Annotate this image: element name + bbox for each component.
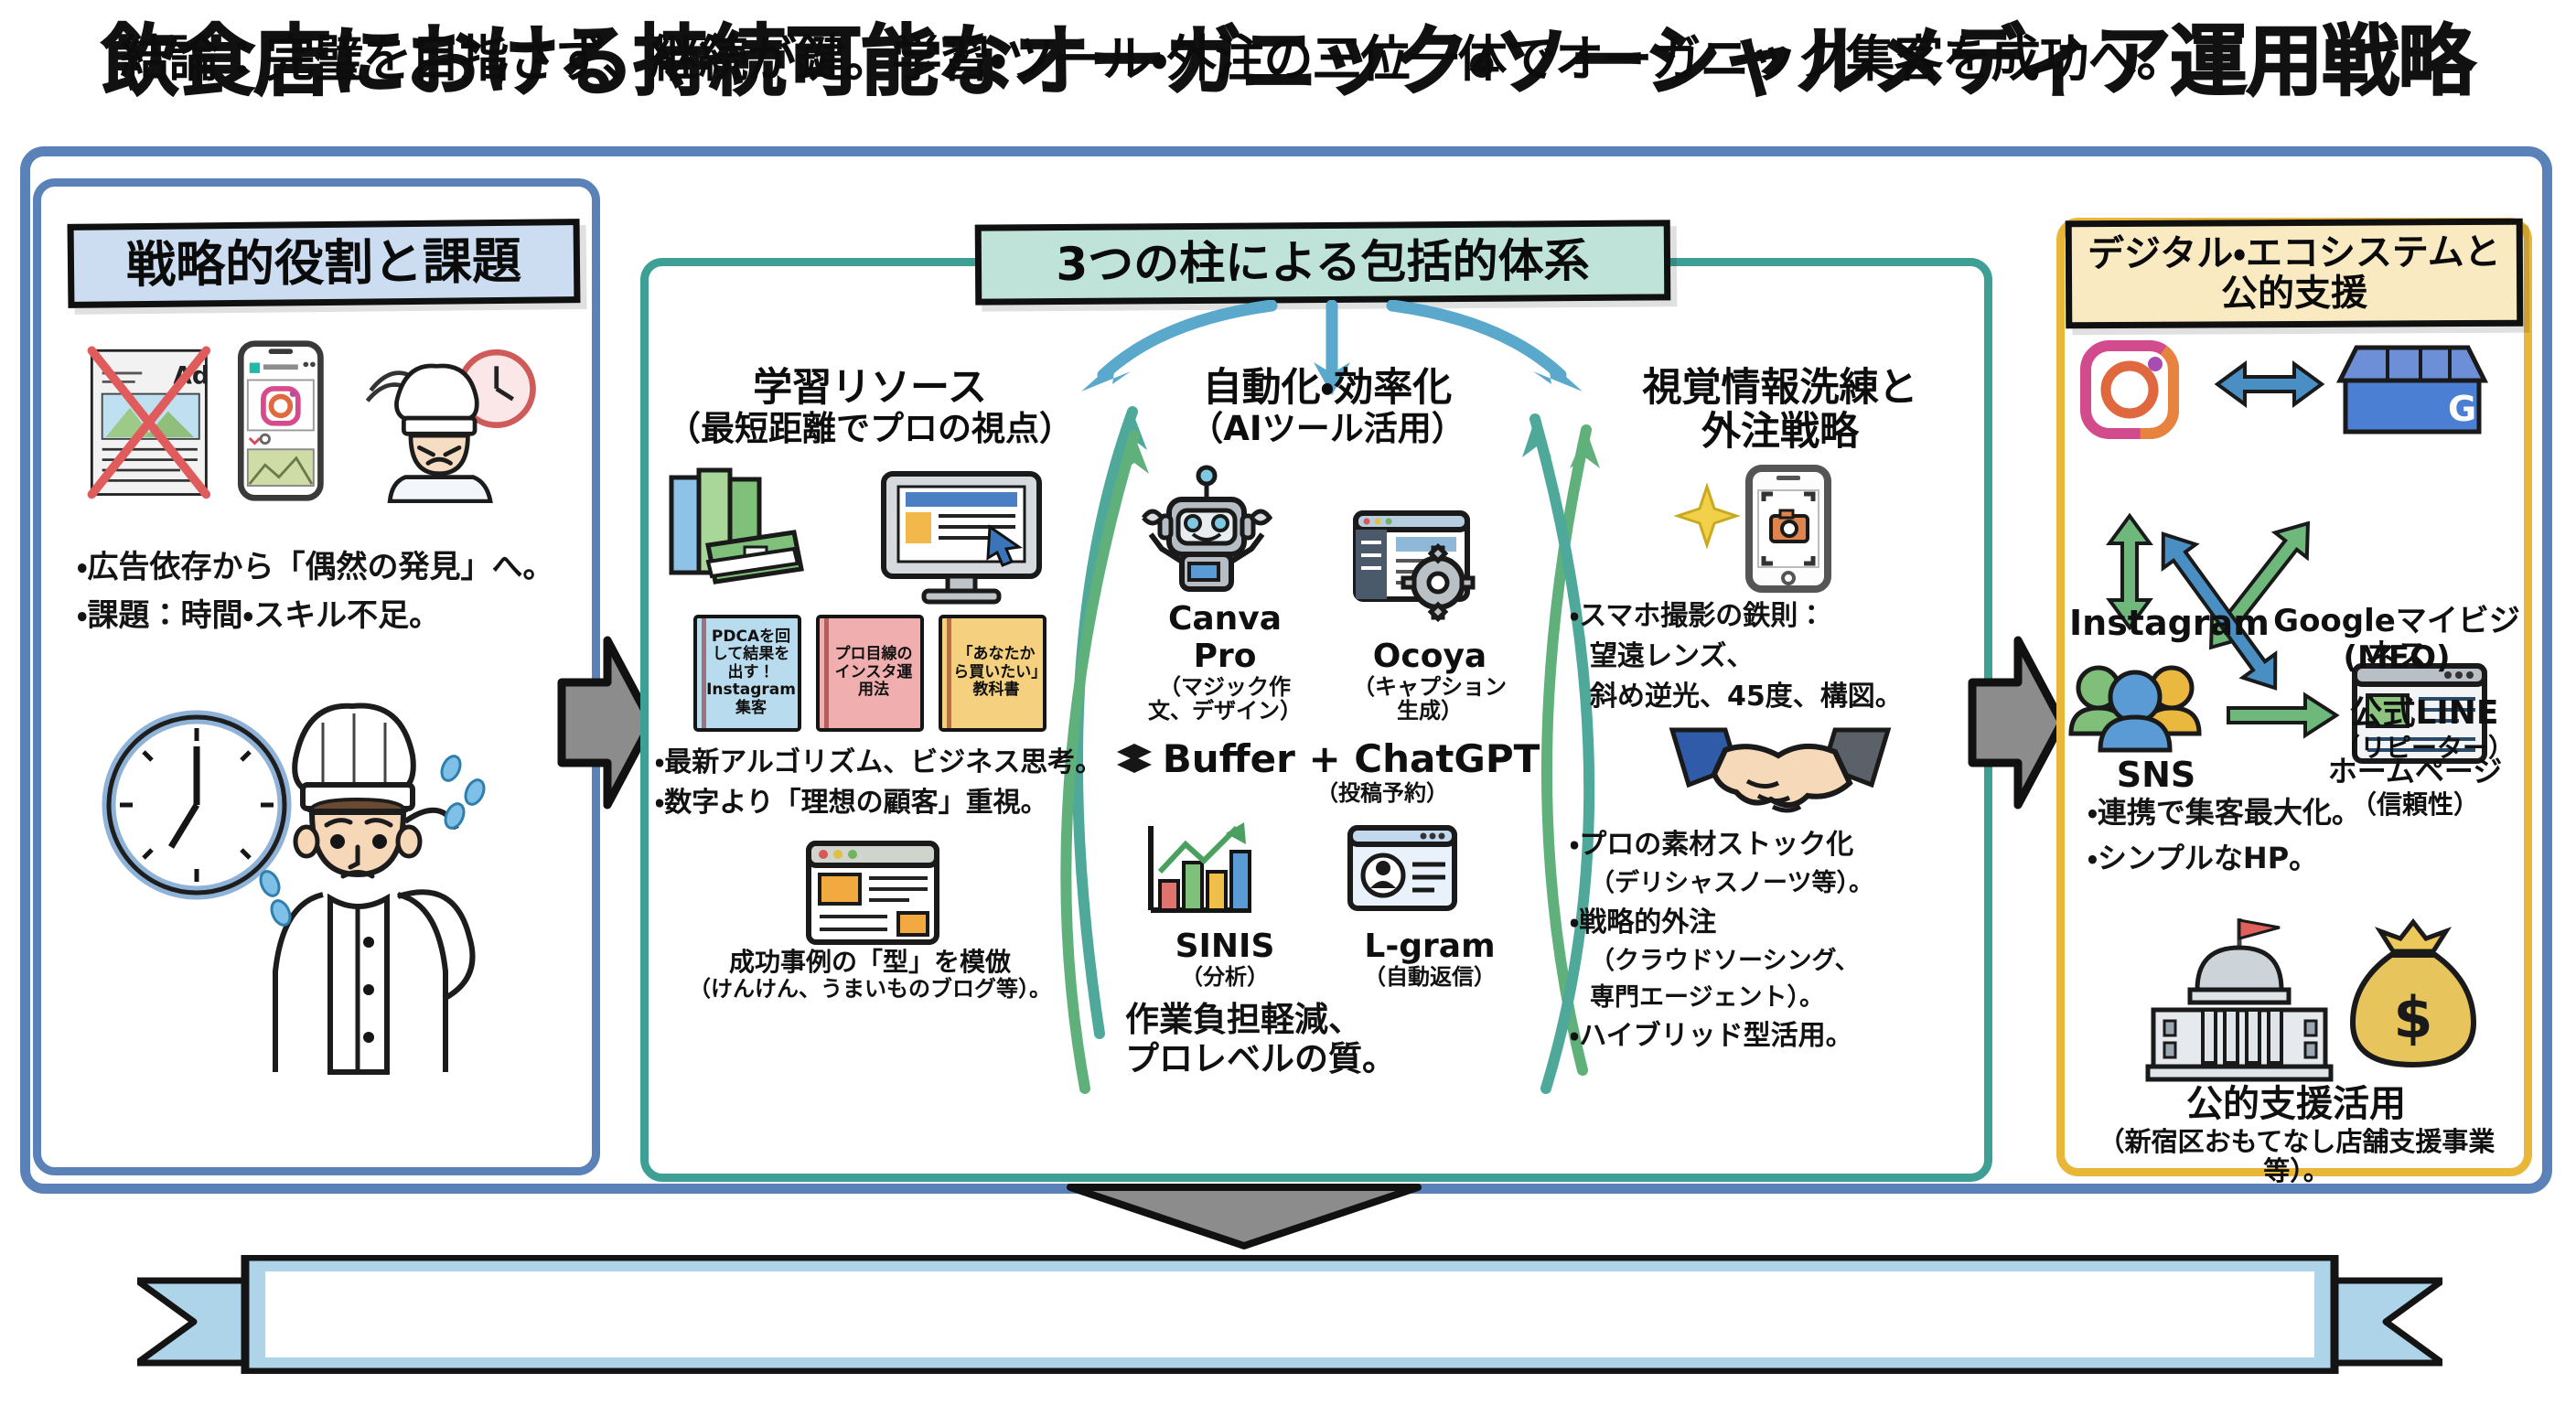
instagram-icon	[2086, 346, 2173, 434]
panel-right-header-line2: 公的支援	[2221, 273, 2367, 315]
right-footer-title: 公的支援活用	[2077, 1084, 2516, 1125]
col2-footer-2: プロレベルの質。	[1112, 1040, 1542, 1079]
money-bag-icon: $	[2353, 922, 2474, 1065]
tool-ocoya-desc: （キャプション生成）	[1343, 675, 1517, 724]
stressed-chef-clock-icon	[368, 352, 533, 501]
robot-icon	[1138, 461, 1275, 598]
tool-sinis: SINIS （分析）	[1138, 820, 1312, 990]
tool-canva-pro: Canva Pro （マジック作文、デザイン）	[1138, 461, 1312, 724]
node-label-homepage: ホームページ	[2296, 756, 2534, 788]
infographic-canvas: 飲食店における持続可能なオーガニック・ソーシャルメディア運用戦略 戦略的役割と課…	[0, 0, 2576, 1405]
col1-book-row: PDCAを回して結果を出す！Instagram集客 プロ目線のインスタ運用法 「…	[655, 615, 1085, 732]
node-label-instagram: Instagram	[2069, 604, 2252, 643]
worried-chef-icon	[257, 705, 488, 1072]
tool-lgram-desc: （自動返信）	[1343, 965, 1517, 990]
tool-canva-pro-name: Canva Pro	[1138, 600, 1312, 675]
node-label-gmb-sub: (MEO)	[2259, 640, 2534, 675]
sparkle-icon	[1678, 487, 1736, 545]
right-footer-sub: （新宿区おもてなし店舗支援事業等）。	[2066, 1127, 2528, 1186]
tool-sinis-desc: （分析）	[1138, 965, 1312, 990]
col1-bullet-2: ・数字より「理想の顧客」重視。	[655, 787, 1085, 820]
arrow-down-to-conclusion-icon	[1061, 1180, 1427, 1253]
mid-tool-name: Buffer + ChatGPT	[1163, 736, 1540, 781]
conclusion-text: 結論：完璧を目指さず、継続が鍵。学習・ツール・外注の三位一体でオーガニック集客を…	[0, 0, 2305, 119]
col3-b2-6: ・ハイブリッド型活用。	[1570, 1020, 1991, 1053]
no-ad-newspaper-icon: Ad	[91, 350, 209, 494]
desktop-monitor-icon	[884, 474, 1039, 602]
svg-text:$: $	[2393, 984, 2432, 1051]
panel-right-header: デジタル・エコシステムと 公的支援	[2066, 219, 2524, 329]
panel-left-header: 戦略的役割と課題	[68, 219, 581, 308]
col2-title: 自動化・効率化	[1112, 366, 1542, 410]
col3-title-2: 外注戦略	[1570, 410, 1991, 454]
right-bullet-2: ・シンプルなHP。	[2088, 842, 2361, 876]
node-label-line: 公式LINE	[2314, 695, 2534, 732]
col3-b2-3: ・戦略的外注	[1570, 906, 1991, 939]
right-panel-bullets: ・連携で集客最大化。 ・シンプルなHP。	[2088, 796, 2361, 887]
col3-bullet-2: 望遠レンズ、	[1570, 640, 1991, 673]
col3-b2-5: 専門エージェント）。	[1570, 983, 1991, 1013]
public-support-icons: $	[2141, 915, 2488, 1089]
arrow-instagram-gmb	[2217, 364, 2322, 404]
col3-bullets-1: ・スマホ撮影の鉄則： 望遠レンズ、 斜め逆光、45度、構図。	[1570, 600, 1991, 713]
arrow-center-to-right-icon	[1967, 631, 2067, 814]
col3-b2-4: （クラウドソーシング、	[1570, 947, 1991, 976]
tool-lgram-name: L-gram	[1343, 928, 1517, 965]
book-cover-3: 「あなたから買いたい」教科書	[939, 615, 1046, 732]
col1-subtitle: （最短距離でプロの視点）	[655, 410, 1085, 447]
clock-icon	[109, 717, 284, 893]
column-automation: 自動化・効率化 （AIツール活用）	[1112, 366, 1542, 1078]
tool-canva-pro-desc: （マジック作文、デザイン）	[1138, 675, 1312, 724]
col3-bullet-3: 斜め逆光、45度、構図。	[1570, 681, 1991, 713]
book-cover-2: プロ目線のインスタ運用法	[816, 615, 924, 732]
col2-subtitle: （AIツール活用）	[1112, 410, 1542, 447]
books-icon	[671, 470, 801, 582]
tool-lgram: L-gram （自動返信）	[1343, 820, 1517, 990]
mid-tool-desc: （投稿予約）	[1222, 781, 1542, 806]
panel-right-header-line1: デジタル・エコシステムと	[2088, 232, 2501, 274]
left-panel-chef-illustration	[87, 668, 572, 1125]
profile-window-icon	[1343, 820, 1462, 926]
handshake-icon	[1570, 723, 1991, 823]
column-learning-resources: 学習リソース （最短距離でプロの視点）	[655, 366, 1085, 1002]
col3-bullet-1: ・スマホ撮影の鉄則：	[1570, 600, 1991, 633]
bar-chart-up-icon	[1138, 820, 1257, 926]
buffer-stack-icon	[1115, 740, 1154, 778]
tool-ocoya: Ocoya （キャプション生成）	[1343, 499, 1517, 724]
people-group-icon	[2071, 668, 2199, 750]
col3-phone-row	[1570, 459, 1991, 596]
browser-window-icon	[655, 838, 1085, 948]
conclusion-ribbon	[137, 1255, 2442, 1374]
col3-b2-1: ・プロの素材ストック化	[1570, 829, 1991, 862]
tool-sinis-name: SINIS	[1138, 928, 1312, 965]
left-panel-bullets: ・広告依存から「偶然の発見」へ。 ・課題：時間・スキル不足。	[77, 549, 554, 646]
google-my-business-icon: G	[2340, 348, 2485, 432]
col3-bullets-2: ・プロの素材ストック化 （デリシャスノーツ等）。 ・戦略的外注 （クラウドソーシ…	[1570, 829, 1991, 1053]
col1-footer-title: 成功事例の「型」を模倣	[655, 948, 1085, 977]
column-visual-outsourcing: 視覚情報洗練と 外注戦略 ・スマホ撮影の鉄則： 望遠レンズ、 斜め逆光、45度、…	[1570, 366, 1991, 1060]
right-bullet-1: ・連携で集客最大化。	[2088, 796, 2361, 831]
government-building-icon	[2148, 918, 2331, 1079]
col1-icon-row	[655, 459, 1085, 606]
col3-b2-2: （デリシャスノーツ等）。	[1570, 869, 1991, 898]
left-bullet-2: ・課題：時間・スキル不足。	[77, 597, 554, 634]
smartphone-camera-icon	[1749, 468, 1828, 589]
instagram-phone-icon	[241, 344, 320, 499]
book-cover-1: PDCAを回して結果を出す！Instagram集客	[693, 615, 801, 732]
dashboard-gear-icon	[1343, 499, 1480, 636]
col1-bullets: ・最新アルゴリズム、ビジネス思考。 ・数字より「理想の顧客」重視。	[655, 746, 1085, 820]
col2-footer-1: 作業負担軽減、	[1112, 1001, 1542, 1040]
svg-text:G: G	[2448, 389, 2476, 429]
col3-title: 視覚情報洗練と	[1570, 366, 1991, 410]
panel-center-header: 3つの柱による包括的体系	[975, 220, 1671, 305]
tool-ocoya-name: Ocoya	[1343, 638, 1517, 675]
col1-footer-sub: （けんけん、うまいものブログ等）。	[655, 977, 1085, 1003]
node-label-sns: SNS	[2088, 756, 2225, 795]
left-bullet-1: ・広告依存から「偶然の発見」へ。	[77, 549, 554, 585]
col1-title: 学習リソース	[655, 366, 1085, 410]
left-panel-icon-row: Ad	[71, 338, 584, 503]
col1-bullet-1: ・最新アルゴリズム、ビジネス思考。	[655, 746, 1085, 779]
